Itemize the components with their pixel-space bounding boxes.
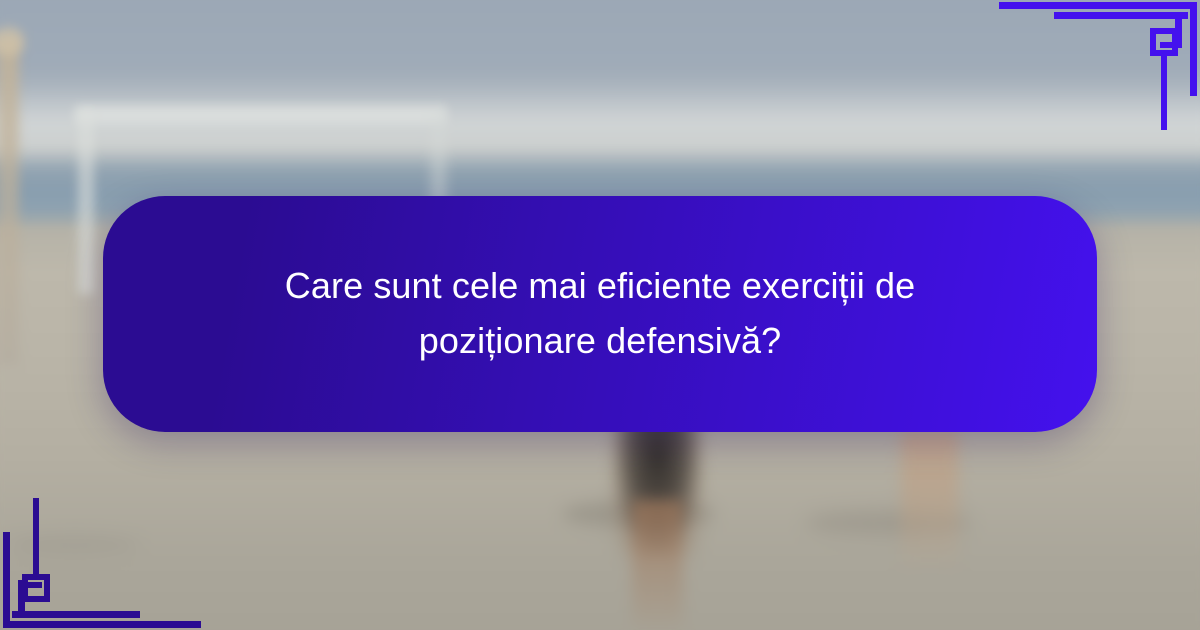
bracket-vertical-outer <box>3 532 10 628</box>
bracket-stem <box>1161 50 1167 130</box>
bracket-horizontal-outer <box>999 2 1191 9</box>
question-card: Care sunt cele mai eficiente exerciții d… <box>103 196 1097 432</box>
question-text: Care sunt cele mai eficiente exerciții d… <box>250 259 950 368</box>
bracket-stem <box>33 498 39 580</box>
social-card-canvas: Care sunt cele mai eficiente exerciții d… <box>0 0 1200 630</box>
bracket-horizontal-inner <box>12 611 140 618</box>
corner-bracket-bottom-left-icon <box>0 485 210 630</box>
bracket-horizontal-inner <box>1054 12 1188 19</box>
corner-bracket-top-right-icon <box>990 0 1200 140</box>
bracket-vertical-outer <box>1190 2 1197 96</box>
bracket-horizontal-outer <box>9 621 201 628</box>
